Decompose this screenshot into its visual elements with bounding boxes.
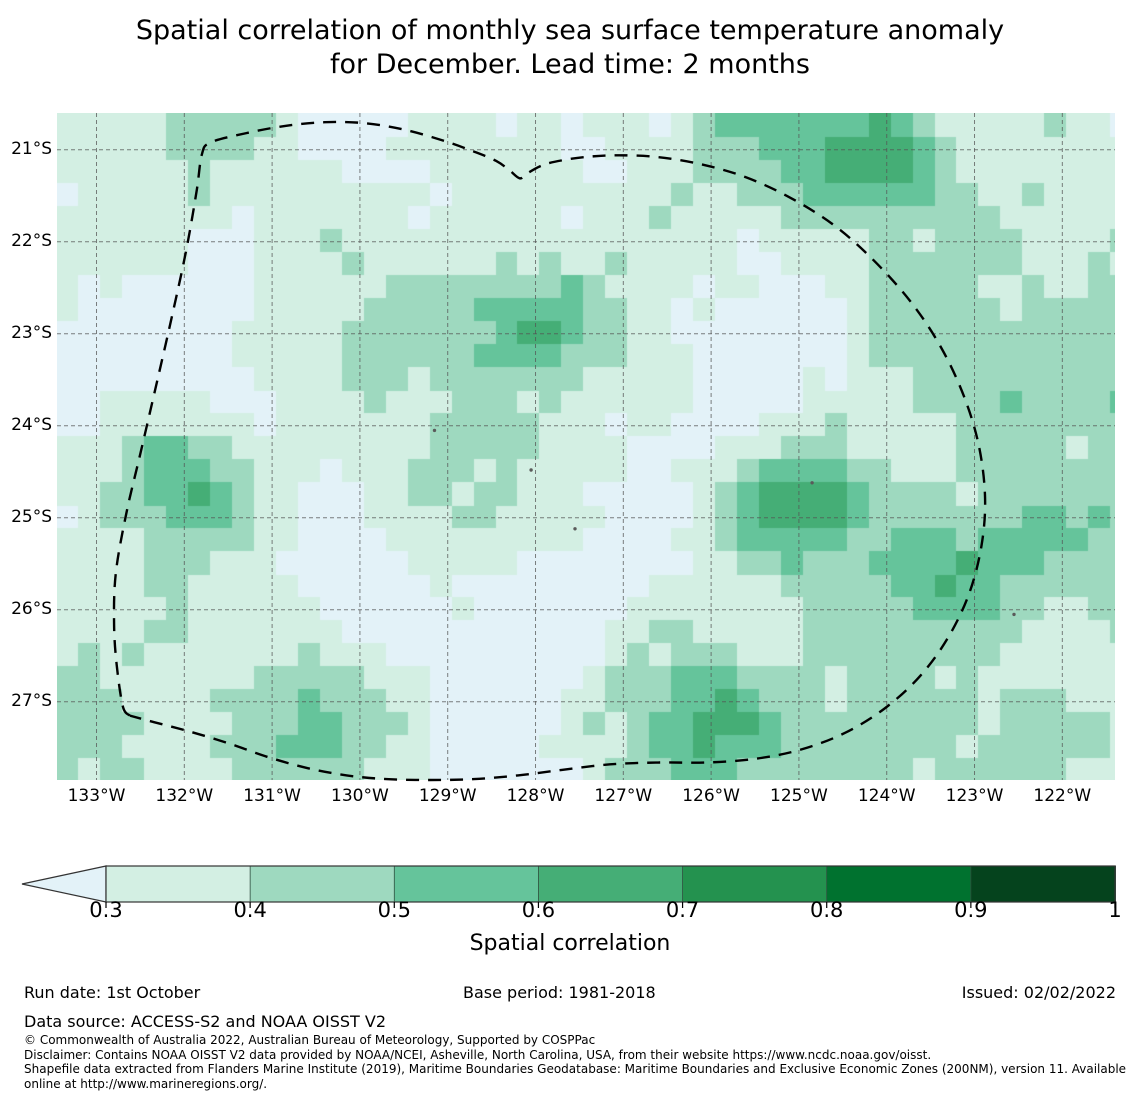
colorbar-swatch (250, 866, 395, 902)
colorbar-tick-label: 0.5 (378, 900, 411, 921)
x-tick-label: 126°W (682, 788, 740, 805)
colorbar-tick-label: 0.3 (89, 900, 122, 921)
colorbar-swatch (394, 866, 539, 902)
y-axis-ticks: 21°S22°S23°S24°S25°S26°S27°S (0, 113, 1115, 780)
title-line-1: Spatial correlation of monthly sea surfa… (0, 14, 1140, 48)
x-tick-label: 123°W (946, 788, 1004, 805)
y-tick-label: 22°S (11, 233, 52, 250)
disclaimer-line: © Commonwealth of Australia 2022, Austra… (24, 1033, 1129, 1048)
title-line-2: for December. Lead time: 2 months (0, 48, 1140, 82)
colorbar-tick-label: 0.8 (810, 900, 843, 921)
x-tick-label: 125°W (770, 788, 828, 805)
y-tick-label: 21°S (11, 141, 52, 158)
colorbar-swatch (971, 866, 1116, 902)
disclaimer-block: © Commonwealth of Australia 2022, Austra… (24, 1033, 1129, 1091)
y-tick-label: 25°S (11, 509, 52, 526)
colorbar-extend-min-arrow (22, 866, 106, 902)
run-date-text: Run date: 1st October (24, 984, 200, 1002)
chart-title: Spatial correlation of monthly sea surfa… (0, 14, 1140, 82)
colorbar-swatch (106, 866, 251, 902)
colorbar-tick-label: 0.7 (666, 900, 699, 921)
x-tick-label: 129°W (419, 788, 477, 805)
colorbar-tick-label: 0.6 (522, 900, 555, 921)
y-tick-label: 27°S (11, 693, 52, 710)
colorbar-swatch (538, 866, 683, 902)
y-tick-label: 24°S (11, 417, 52, 434)
colorbar-swatch (827, 866, 972, 902)
disclaimer-line: Shapefile data extracted from Flanders M… (24, 1062, 1129, 1091)
x-tick-label: 127°W (594, 788, 652, 805)
issued-date-text: Issued: 02/02/2022 (962, 984, 1116, 1002)
x-tick-label: 122°W (1033, 788, 1091, 805)
x-tick-label: 133°W (68, 788, 126, 805)
x-tick-label: 132°W (155, 788, 213, 805)
x-tick-label: 124°W (858, 788, 916, 805)
colorbar-tick-label: 0.4 (233, 900, 266, 921)
x-tick-label: 131°W (243, 788, 301, 805)
disclaimer-line: Disclaimer: Contains NOAA OISST V2 data … (24, 1048, 1129, 1063)
colorbar-tick-label: 1 (1108, 900, 1121, 921)
colorbar-swatch (683, 866, 828, 902)
base-period-text: Base period: 1981-2018 (463, 984, 656, 1002)
y-tick-label: 26°S (11, 601, 52, 618)
colorbar-axis-label: Spatial correlation (0, 931, 1140, 956)
footer-meta-row: Run date: 1st October Base period: 1981-… (0, 984, 1140, 1008)
x-tick-label: 128°W (507, 788, 565, 805)
x-tick-label: 130°W (331, 788, 389, 805)
data-source-text: Data source: ACCESS-S2 and NOAA OISST V2 (24, 1013, 386, 1031)
y-tick-label: 23°S (11, 325, 52, 342)
colorbar-tick-label: 0.9 (954, 900, 987, 921)
